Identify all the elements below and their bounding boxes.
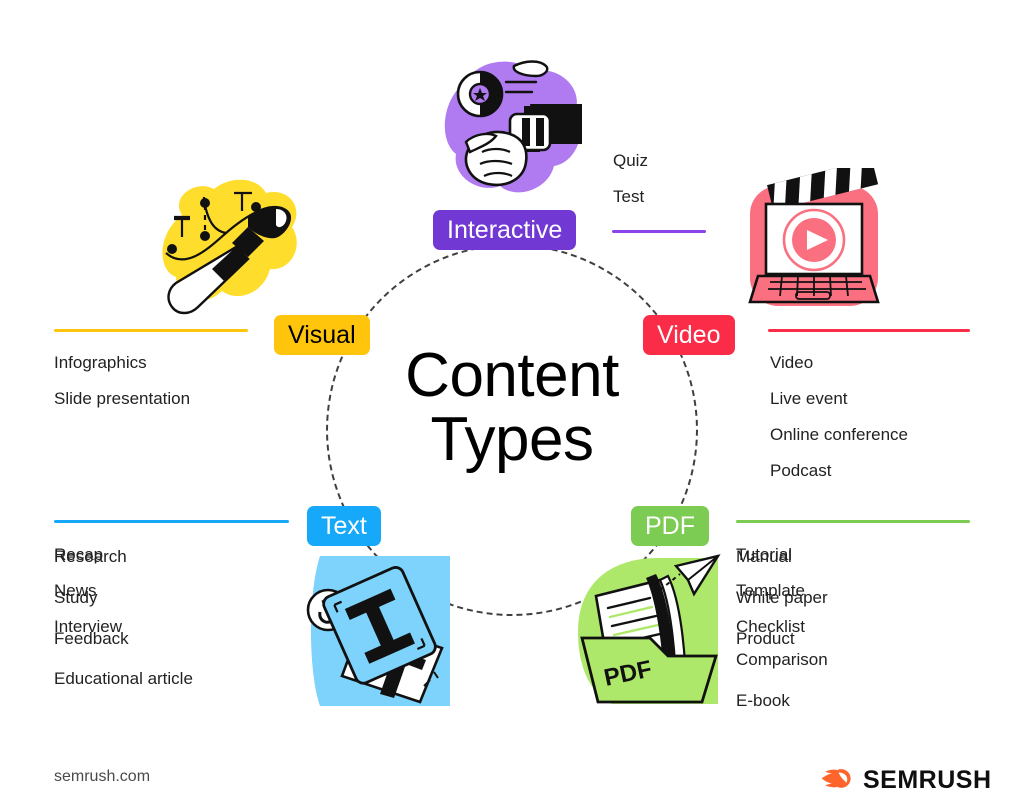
badge-visual[interactable]: Visual <box>274 315 370 355</box>
list-text-column-2: Research Study Feedback Educational arti… <box>54 546 214 709</box>
divider-video <box>768 329 970 332</box>
semrush-comet-icon <box>820 767 854 795</box>
infographic-canvas: Content Types <box>0 0 1024 806</box>
badge-video[interactable]: Video <box>643 315 735 355</box>
list-item: Feedback <box>54 628 214 650</box>
footer-url[interactable]: semrush.com <box>54 768 150 786</box>
list-item: Template <box>736 582 876 599</box>
list-item: Research <box>54 546 214 568</box>
badge-pdf-label: PDF <box>645 514 695 539</box>
list-item: Checklist <box>736 618 876 635</box>
pdf-folder-icon: PDF <box>572 552 724 710</box>
list-pdf-column-2: Tutorial Template Checklist <box>736 546 876 654</box>
page-title-line-1: Content <box>352 344 672 408</box>
laptop-clapperboard-icon <box>742 168 890 318</box>
list-item: Infographics <box>54 354 190 371</box>
divider-visual <box>54 329 248 332</box>
paintbrush-icon <box>152 175 304 323</box>
badge-text-label: Text <box>321 514 367 539</box>
divider-pdf <box>736 520 970 523</box>
divider-interactive <box>612 230 706 233</box>
list-item: Slide presentation <box>54 390 190 407</box>
page-title: Content Types <box>352 344 672 472</box>
list-item: Online conference <box>770 426 908 443</box>
badge-video-label: Video <box>657 323 721 348</box>
list-item: Study <box>54 587 214 609</box>
list-video: Video Live event Online conference Podca… <box>770 354 908 498</box>
badge-interactive-label: Interactive <box>447 218 562 243</box>
semrush-wordmark: SEMRUSH <box>863 766 992 795</box>
list-item: Tutorial <box>736 546 876 563</box>
list-item: Podcast <box>770 462 908 479</box>
semrush-logo[interactable]: SEMRUSH <box>820 766 992 795</box>
list-interactive: Quiz Test <box>613 152 648 224</box>
list-item: Educational article <box>54 668 214 690</box>
divider-text <box>54 520 289 523</box>
list-item: Test <box>613 188 648 205</box>
letter-blocks-icon <box>302 552 454 710</box>
list-item: E-book <box>736 690 874 712</box>
list-item: Quiz <box>613 152 648 169</box>
list-item: Live event <box>770 390 908 407</box>
page-title-line-2: Types <box>352 408 672 472</box>
badge-pdf[interactable]: PDF <box>631 506 709 546</box>
hand-smartwatch-icon <box>432 48 592 210</box>
badge-text[interactable]: Text <box>307 506 381 546</box>
list-item: Video <box>770 354 908 371</box>
badge-visual-label: Visual <box>288 323 356 348</box>
badge-interactive[interactable]: Interactive <box>433 210 576 250</box>
list-visual: Infographics Slide presentation <box>54 354 190 426</box>
